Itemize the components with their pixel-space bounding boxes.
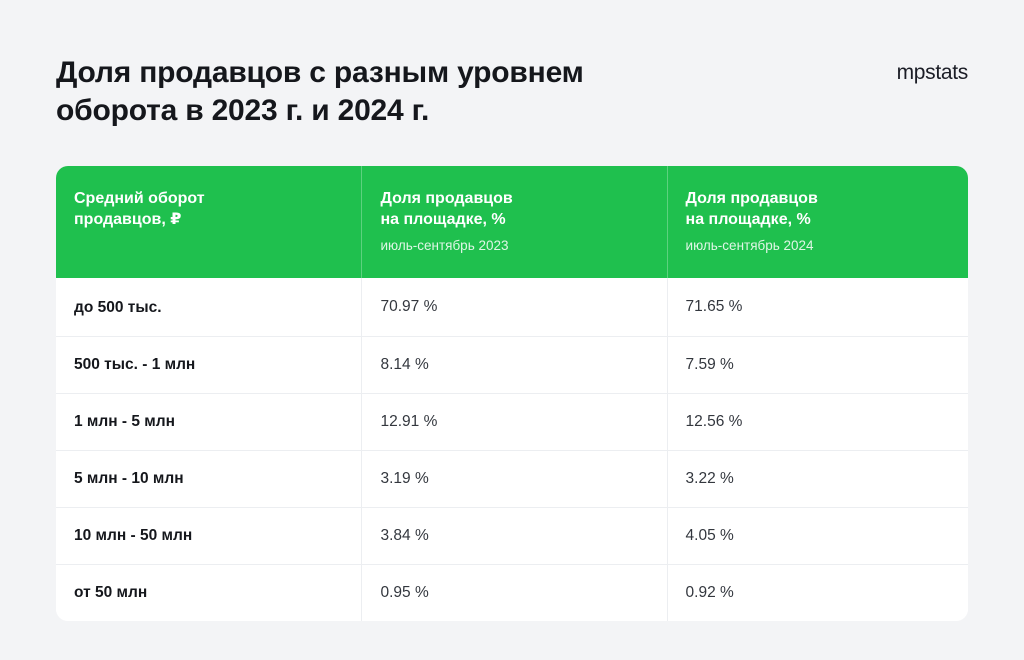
share-2023-value: 0.95 % bbox=[380, 584, 428, 601]
cell-share-2024: 0.92 % bbox=[667, 565, 968, 622]
cell-bucket: 500 тыс. - 1 млн bbox=[56, 337, 362, 394]
table-row: 5 млн - 10 млн 3.19 % 3.22 % bbox=[56, 451, 968, 508]
cell-share-2023: 3.19 % bbox=[362, 451, 667, 508]
share-2024-value: 7.59 % bbox=[686, 356, 734, 373]
share-2024-value: 12.56 % bbox=[686, 413, 743, 430]
column-header-share-2023-title: Доля продавцов на площадке, % bbox=[380, 188, 666, 230]
cell-share-2024: 3.22 % bbox=[667, 451, 968, 508]
mpstats-logo: mpstats bbox=[897, 54, 968, 86]
cell-share-2023: 12.91 % bbox=[362, 394, 667, 451]
column-header-turnover-title: Средний оборот продавцов, ₽ bbox=[74, 188, 361, 230]
table-row: 1 млн - 5 млн 12.91 % 12.56 % bbox=[56, 394, 968, 451]
share-2023-value: 3.19 % bbox=[380, 470, 428, 487]
cell-share-2024: 12.56 % bbox=[667, 394, 968, 451]
table-row: от 50 млн 0.95 % 0.92 % bbox=[56, 565, 968, 622]
bucket-label: 1 млн - 5 млн bbox=[74, 413, 175, 430]
column-header-share-2024: Доля продавцов на площадке, % июль-сентя… bbox=[667, 166, 968, 278]
cell-bucket: до 500 тыс. bbox=[56, 278, 362, 337]
column-header-turnover: Средний оборот продавцов, ₽ bbox=[56, 166, 362, 278]
cell-share-2024: 71.65 % bbox=[667, 278, 968, 337]
table-header-row: Средний оборот продавцов, ₽ Доля продавц… bbox=[56, 166, 968, 278]
bucket-label: 5 млн - 10 млн bbox=[74, 470, 184, 487]
cell-share-2024: 4.05 % bbox=[667, 508, 968, 565]
bucket-label: 10 млн - 50 млн bbox=[74, 527, 192, 544]
share-2023-value: 3.84 % bbox=[380, 527, 428, 544]
page-root: Доля продавцов с разным уровнем оборота … bbox=[0, 0, 1024, 660]
cell-share-2024: 7.59 % bbox=[667, 337, 968, 394]
cell-bucket: от 50 млн bbox=[56, 565, 362, 622]
table-body: до 500 тыс. 70.97 % 71.65 % 500 тыс. - 1… bbox=[56, 278, 968, 621]
column-header-share-2023-period: июль-сентябрь 2023 bbox=[380, 237, 666, 254]
cell-share-2023: 3.84 % bbox=[362, 508, 667, 565]
cell-share-2023: 70.97 % bbox=[362, 278, 667, 337]
share-2024-value: 71.65 % bbox=[686, 298, 743, 315]
share-2023-value: 8.14 % bbox=[380, 356, 428, 373]
table-row: до 500 тыс. 70.97 % 71.65 % bbox=[56, 278, 968, 337]
column-header-share-2023: Доля продавцов на площадке, % июль-сентя… bbox=[362, 166, 667, 278]
header-bar: Доля продавцов с разным уровнем оборота … bbox=[56, 54, 968, 130]
share-2023-value: 12.91 % bbox=[380, 413, 437, 430]
cell-bucket: 1 млн - 5 млн bbox=[56, 394, 362, 451]
table-row: 10 млн - 50 млн 3.84 % 4.05 % bbox=[56, 508, 968, 565]
share-2024-value: 3.22 % bbox=[686, 470, 734, 487]
bucket-label: 500 тыс. - 1 млн bbox=[74, 356, 195, 373]
column-header-share-2024-title: Доля продавцов на площадке, % bbox=[686, 188, 968, 230]
cell-bucket: 5 млн - 10 млн bbox=[56, 451, 362, 508]
bucket-label: от 50 млн bbox=[74, 584, 147, 601]
column-header-share-2024-period: июль-сентябрь 2024 bbox=[686, 237, 968, 254]
share-2023-value: 70.97 % bbox=[380, 298, 437, 315]
table-header: Средний оборот продавцов, ₽ Доля продавц… bbox=[56, 166, 968, 278]
data-table-container: Средний оборот продавцов, ₽ Доля продавц… bbox=[56, 166, 968, 621]
share-2024-value: 4.05 % bbox=[686, 527, 734, 544]
cell-share-2023: 0.95 % bbox=[362, 565, 667, 622]
table-row: 500 тыс. - 1 млн 8.14 % 7.59 % bbox=[56, 337, 968, 394]
page-title: Доля продавцов с разным уровнем оборота … bbox=[56, 54, 584, 130]
sellers-turnover-table: Средний оборот продавцов, ₽ Доля продавц… bbox=[56, 166, 968, 621]
bucket-label: до 500 тыс. bbox=[74, 299, 162, 316]
cell-share-2023: 8.14 % bbox=[362, 337, 667, 394]
share-2024-value: 0.92 % bbox=[686, 584, 734, 601]
cell-bucket: 10 млн - 50 млн bbox=[56, 508, 362, 565]
